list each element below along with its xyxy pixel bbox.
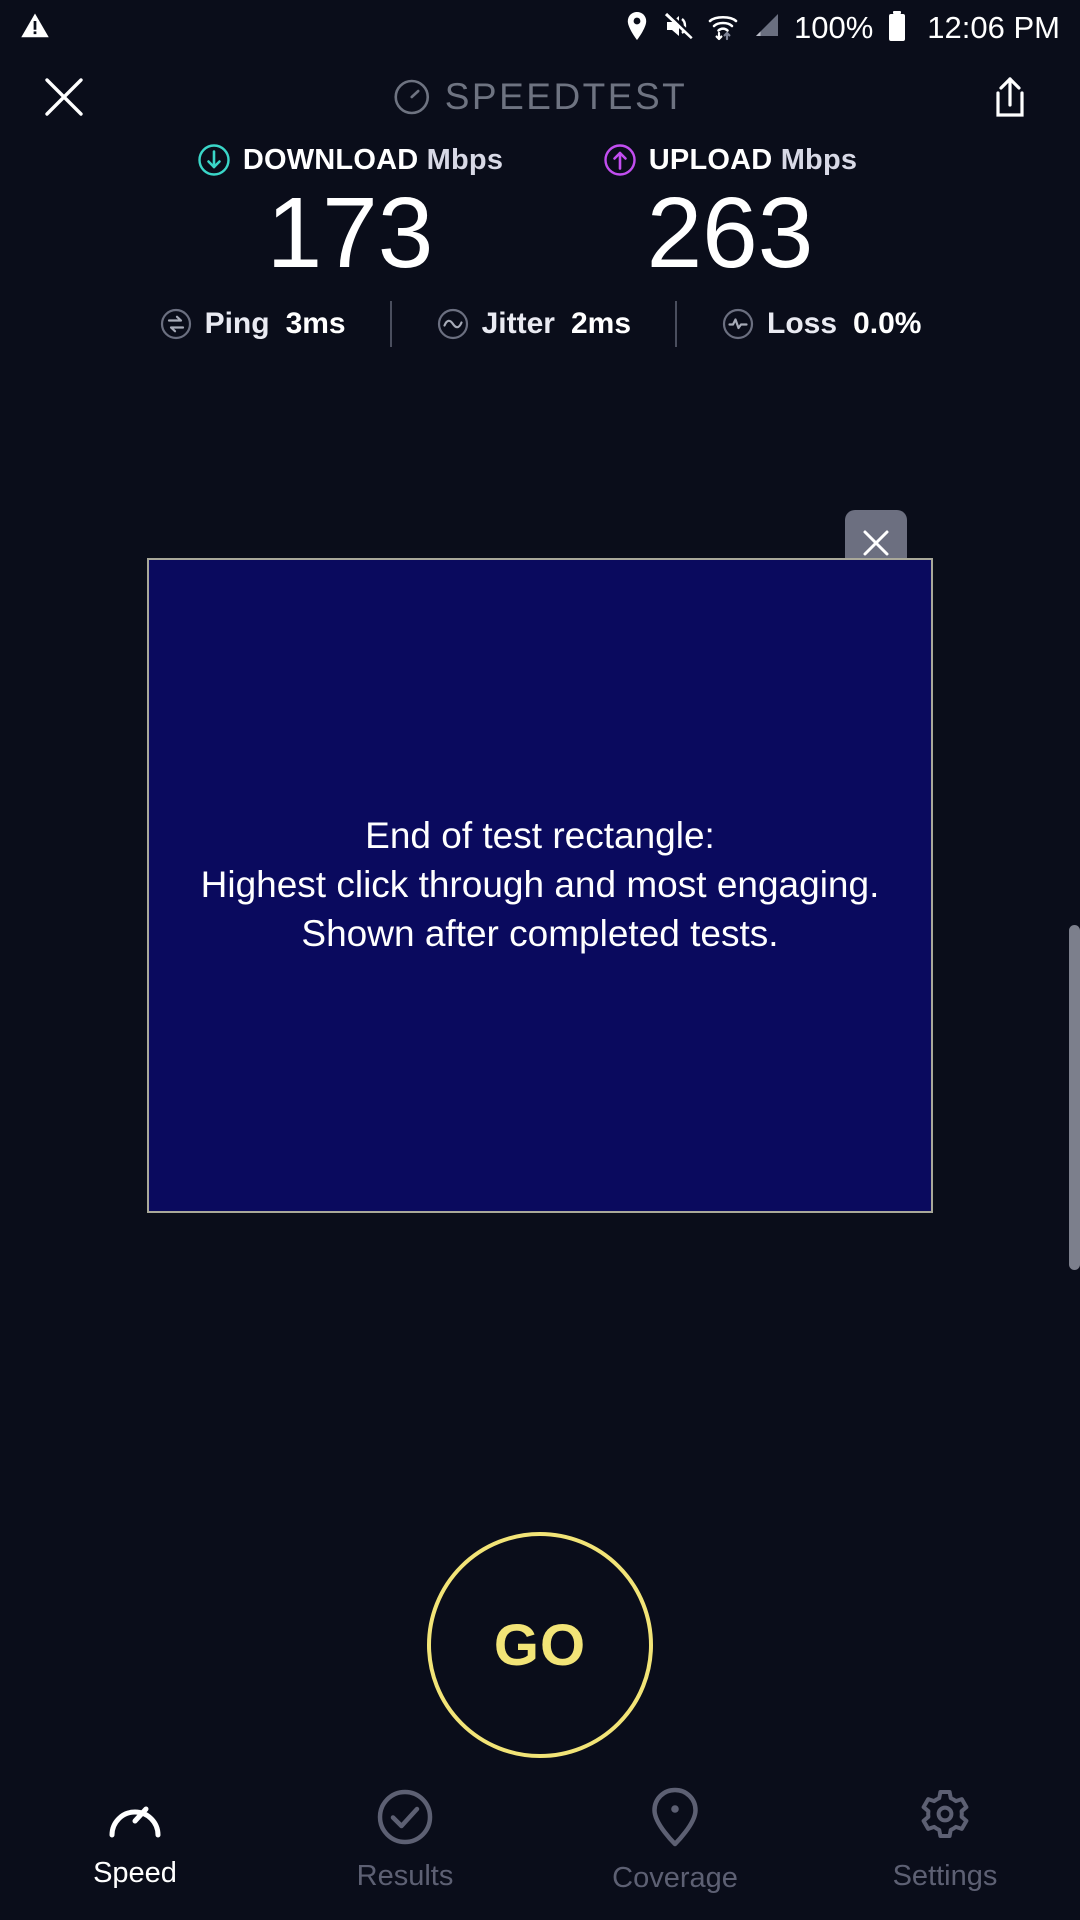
bottom-navigation: Speed Results Coverage Settings — [0, 1760, 1080, 1920]
loss-pulse-icon — [721, 307, 755, 341]
share-button[interactable] — [982, 69, 1038, 125]
stat-jitter: Jitter 2ms — [428, 307, 639, 341]
stat-loss-label: Loss — [767, 307, 837, 341]
stat-divider — [675, 301, 677, 347]
upload-value: 263 — [540, 182, 920, 284]
wifi-transfer-icon — [708, 11, 738, 46]
volume-muted-icon — [663, 11, 695, 46]
status-time: 12:06 PM — [927, 10, 1060, 46]
advertisement: End of test rectangle: Highest click thr… — [147, 558, 933, 1213]
nav-item-coverage[interactable]: Coverage — [540, 1760, 810, 1920]
gear-icon — [916, 1788, 974, 1846]
status-bar-left — [20, 11, 50, 46]
battery-full-icon — [886, 10, 908, 47]
speedometer-icon — [393, 78, 431, 116]
status-bar: 100% 12:06 PM — [0, 0, 1080, 56]
nav-item-speed[interactable]: Speed — [0, 1760, 270, 1920]
close-button[interactable] — [36, 69, 92, 125]
jitter-wave-icon — [436, 307, 470, 341]
nav-item-results[interactable]: Results — [270, 1760, 540, 1920]
battery-percent-label: 100% — [794, 10, 873, 46]
map-pin-icon — [649, 1786, 701, 1848]
stat-loss-value: 0.0% — [853, 307, 921, 341]
nav-label-coverage: Coverage — [612, 1862, 738, 1895]
speedtest-app: 100% 12:06 PM SPEEDTEST — [0, 0, 1080, 1920]
go-button-label: GO — [494, 1612, 586, 1679]
download-value: 173 — [160, 182, 540, 284]
warning-triangle-icon — [20, 11, 50, 46]
stat-ping-value: 3ms — [286, 307, 346, 341]
status-bar-right: 100% 12:06 PM — [624, 10, 1060, 47]
upload-arrow-icon — [603, 143, 637, 177]
check-circle-icon — [376, 1788, 434, 1846]
upload-label: UPLOAD Mbps — [649, 144, 857, 177]
download-label: DOWNLOAD Mbps — [243, 144, 503, 177]
ad-banner[interactable]: End of test rectangle: Highest click thr… — [147, 558, 933, 1213]
download-result: DOWNLOAD Mbps 173 — [160, 140, 540, 284]
ping-exchange-icon — [159, 307, 193, 341]
stat-loss: Loss 0.0% — [713, 307, 929, 341]
location-pin-icon — [624, 11, 650, 46]
share-icon — [990, 75, 1030, 119]
go-button[interactable]: GO — [427, 1532, 653, 1758]
results-panel: DOWNLOAD Mbps 173 UPLOAD Mbps 263 — [0, 140, 1080, 352]
scrollbar[interactable] — [1069, 925, 1080, 1270]
stat-ping: Ping 3ms — [151, 307, 354, 341]
stat-ping-label: Ping — [205, 307, 270, 341]
app-header: SPEEDTEST — [0, 56, 1080, 138]
ad-line-2: Highest click through and most engaging. — [201, 861, 880, 910]
ad-text: End of test rectangle: Highest click thr… — [201, 812, 880, 958]
download-arrow-icon — [197, 143, 231, 177]
connection-stats: Ping 3ms Jitter 2ms Loss 0.0% — [0, 296, 1080, 352]
nav-item-settings[interactable]: Settings — [810, 1760, 1080, 1920]
cellular-signal-icon — [751, 11, 781, 46]
nav-label-speed: Speed — [93, 1857, 177, 1890]
close-icon — [43, 76, 85, 118]
stat-divider — [390, 301, 392, 347]
nav-label-results: Results — [357, 1860, 454, 1893]
stat-jitter-label: Jitter — [482, 307, 555, 341]
ad-line-3: Shown after completed tests. — [201, 910, 880, 959]
upload-label-row: UPLOAD Mbps — [540, 140, 920, 180]
brand-title: SPEEDTEST — [445, 76, 688, 118]
stat-jitter-value: 2ms — [571, 307, 631, 341]
ad-line-1: End of test rectangle: — [201, 812, 880, 861]
download-label-row: DOWNLOAD Mbps — [160, 140, 540, 180]
upload-result: UPLOAD Mbps 263 — [540, 140, 920, 284]
speedometer-icon — [106, 1791, 164, 1843]
speed-readouts: DOWNLOAD Mbps 173 UPLOAD Mbps 263 — [0, 140, 1080, 284]
ad-close-icon — [860, 527, 892, 559]
brand-logo: SPEEDTEST — [393, 76, 688, 118]
nav-label-settings: Settings — [893, 1860, 998, 1893]
